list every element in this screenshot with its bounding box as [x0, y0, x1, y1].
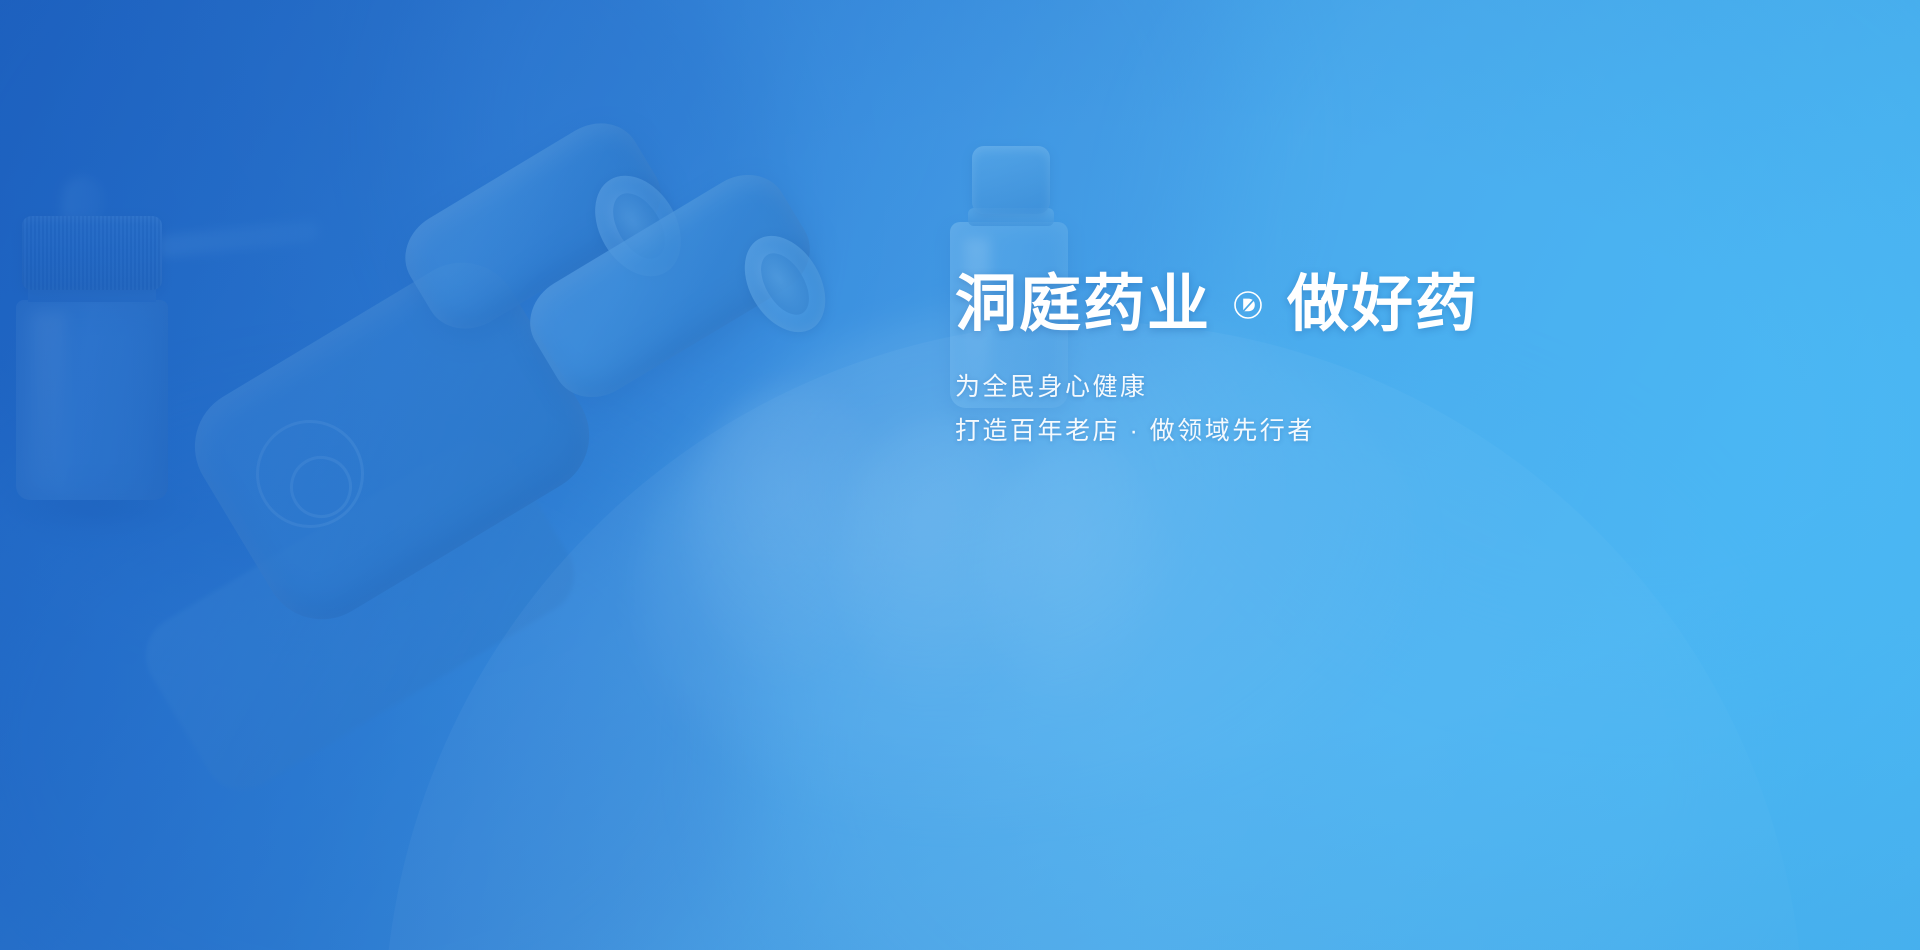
vignette-overlay — [0, 0, 1920, 950]
hero-copy: 洞庭药业 做好药 为全民身心健康 打造百年老店 · 做领域先行者 — [955, 262, 1715, 452]
hero-banner: 洞庭药业 做好药 为全民身心健康 打造百年老店 · 做领域先行者 — [0, 0, 1920, 950]
background-photo — [0, 0, 1920, 950]
circular-d-monogram-icon — [1233, 290, 1263, 320]
subtitle-line-2: 打造百年老店 · 做领域先行者 — [955, 410, 1715, 452]
headline-brand-name: 洞庭药业 — [955, 262, 1211, 348]
subtitle-line-1: 为全民身心健康 — [955, 366, 1715, 408]
hero-subtitle: 为全民身心健康 打造百年老店 · 做领域先行者 — [955, 366, 1715, 452]
headline-slogan: 做好药 — [1287, 262, 1479, 348]
hero-headline: 洞庭药业 做好药 — [955, 262, 1715, 348]
